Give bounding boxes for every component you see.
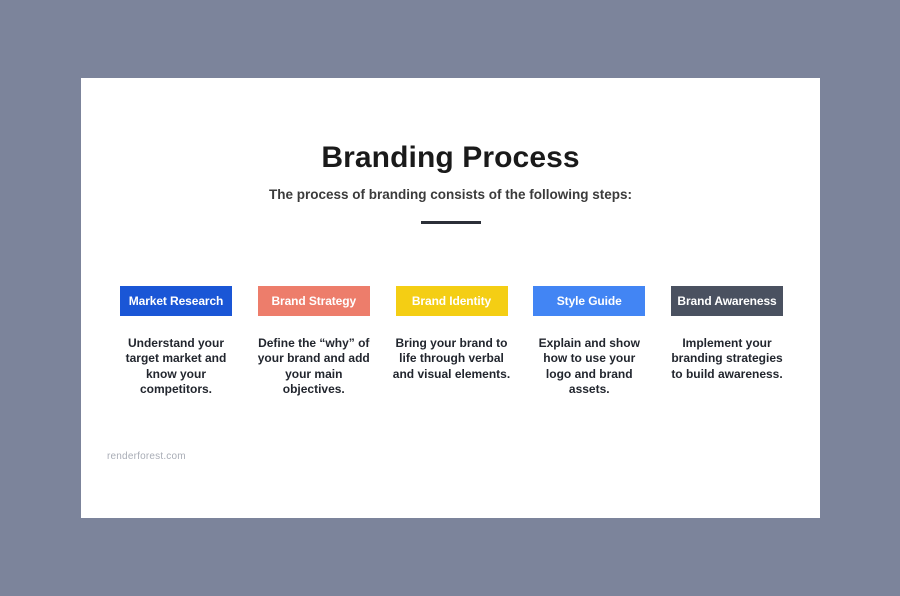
- steps-row: Market Research Understand your target m…: [120, 286, 783, 397]
- step-chip-brand-identity: Brand Identity: [396, 286, 508, 316]
- step-description: Understand your target market and know y…: [117, 336, 235, 397]
- step-chip-market-research: Market Research: [120, 286, 232, 316]
- watermark-text: renderforest.com: [107, 451, 186, 462]
- step-description: Bring your brand to life through verbal …: [393, 336, 511, 382]
- slide-canvas: Branding Process The process of branding…: [0, 0, 900, 596]
- step-chip-label: Brand Identity: [412, 294, 491, 308]
- step-column-brand-awareness: Brand Awareness Implement your branding …: [671, 286, 783, 382]
- step-chip-label: Market Research: [129, 294, 224, 308]
- slide-card: Branding Process The process of branding…: [81, 78, 820, 518]
- step-chip-style-guide: Style Guide: [533, 286, 645, 316]
- step-chip-brand-strategy: Brand Strategy: [258, 286, 370, 316]
- step-chip-label: Brand Strategy: [271, 294, 356, 308]
- step-column-brand-strategy: Brand Strategy Define the “why” of your …: [258, 286, 370, 397]
- step-column-style-guide: Style Guide Explain and show how to use …: [533, 286, 645, 397]
- step-column-market-research: Market Research Understand your target m…: [120, 286, 232, 397]
- step-chip-label: Style Guide: [557, 294, 622, 308]
- title-divider: [421, 221, 481, 224]
- step-column-brand-identity: Brand Identity Bring your brand to life …: [396, 286, 508, 382]
- step-chip-label: Brand Awareness: [677, 294, 776, 308]
- step-description: Explain and show how to use your logo an…: [530, 336, 648, 397]
- step-chip-brand-awareness: Brand Awareness: [671, 286, 783, 316]
- page-subtitle: The process of branding consists of the …: [81, 187, 820, 203]
- page-title: Branding Process: [81, 141, 820, 174]
- step-description: Implement your branding strategies to bu…: [668, 336, 786, 382]
- step-description: Define the “why” of your brand and add y…: [255, 336, 373, 397]
